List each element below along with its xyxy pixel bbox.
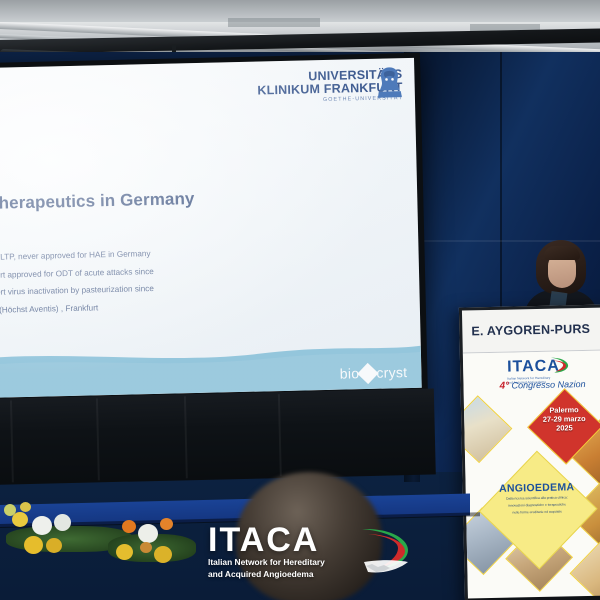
biocryst-sponsor-logo: bio cryst	[340, 364, 408, 382]
projection-screen-assembly: UNIVERSITÄTS KLINIKUM FRANKFURT GOETHE-U…	[0, 53, 428, 420]
poster-congress-number: 4°	[499, 381, 509, 392]
flower-yellow	[154, 546, 172, 563]
screen-skirt-drape	[0, 388, 436, 486]
itaca-swoosh-icon	[358, 526, 412, 578]
poster-theme-sub-2: innovazioni diagnostiche e terapeutiche	[488, 502, 586, 509]
poster-photo-tile	[463, 395, 513, 463]
poster-congress-label: Congresso Nazion	[511, 379, 585, 391]
flower-yellow	[116, 544, 133, 560]
flower-yellow	[24, 536, 43, 554]
poster-congress-line: 4° Congresso Nazion	[499, 379, 585, 392]
photo-cathedral	[463, 395, 513, 463]
itaca-logo-overlay: ITACA Italian Network for Hereditary and…	[208, 524, 408, 586]
conference-photo-scene: ↓ ↓ UNIVERSI	[0, 0, 600, 600]
poster-theme-title: ANGIOEDEMA	[488, 481, 586, 495]
speaker-name-plate: E. AYGOREN-PURS	[462, 308, 600, 354]
flower-yellow-small	[20, 502, 31, 512]
itaca-swoosh-icon	[549, 355, 569, 373]
flower-center	[140, 542, 152, 553]
biocryst-text-b: cryst	[376, 364, 407, 381]
slide-bullet-list: d androgens for LTP, never approved for …	[0, 242, 292, 320]
flower-orange	[160, 518, 173, 530]
ceiling-vent	[228, 18, 320, 27]
presentation-slide: UNIVERSITÄTS KLINIKUM FRANKFURT GOETHE-U…	[0, 58, 422, 399]
flower-yellow	[12, 512, 28, 527]
presenter-fringe	[544, 246, 580, 260]
flower-white	[54, 514, 71, 531]
flower-arrangement-right	[108, 512, 198, 574]
poster-theme-text: ANGIOEDEMA Dalla ricerca scientifica all…	[488, 481, 587, 516]
flower-green-bud	[4, 504, 16, 516]
itaca-tagline-line2: and Acquired Angioedema	[208, 569, 325, 580]
flower-white	[32, 516, 52, 535]
poster-date-text: Palermo 27-29 marzo 2025	[538, 405, 591, 433]
university-hospital-logo: UNIVERSITÄTS KLINIKUM FRANKFURT GOETHE-U…	[257, 68, 403, 104]
goethe-portrait-icon	[374, 64, 405, 99]
poster-theme-sub-1: Dalla ricerca scientifica alla pratica c…	[488, 495, 586, 502]
poster-year: 2025	[538, 423, 590, 433]
itaca-tagline-line1: Italian Network for Hereditary	[208, 557, 325, 568]
itaca-wordmark: ITACA	[208, 524, 325, 556]
flower-yellow	[46, 538, 62, 553]
flower-orange	[122, 520, 136, 533]
flower-white	[138, 524, 158, 543]
slide-title: f HAE therapeutics in Germany	[0, 187, 271, 215]
